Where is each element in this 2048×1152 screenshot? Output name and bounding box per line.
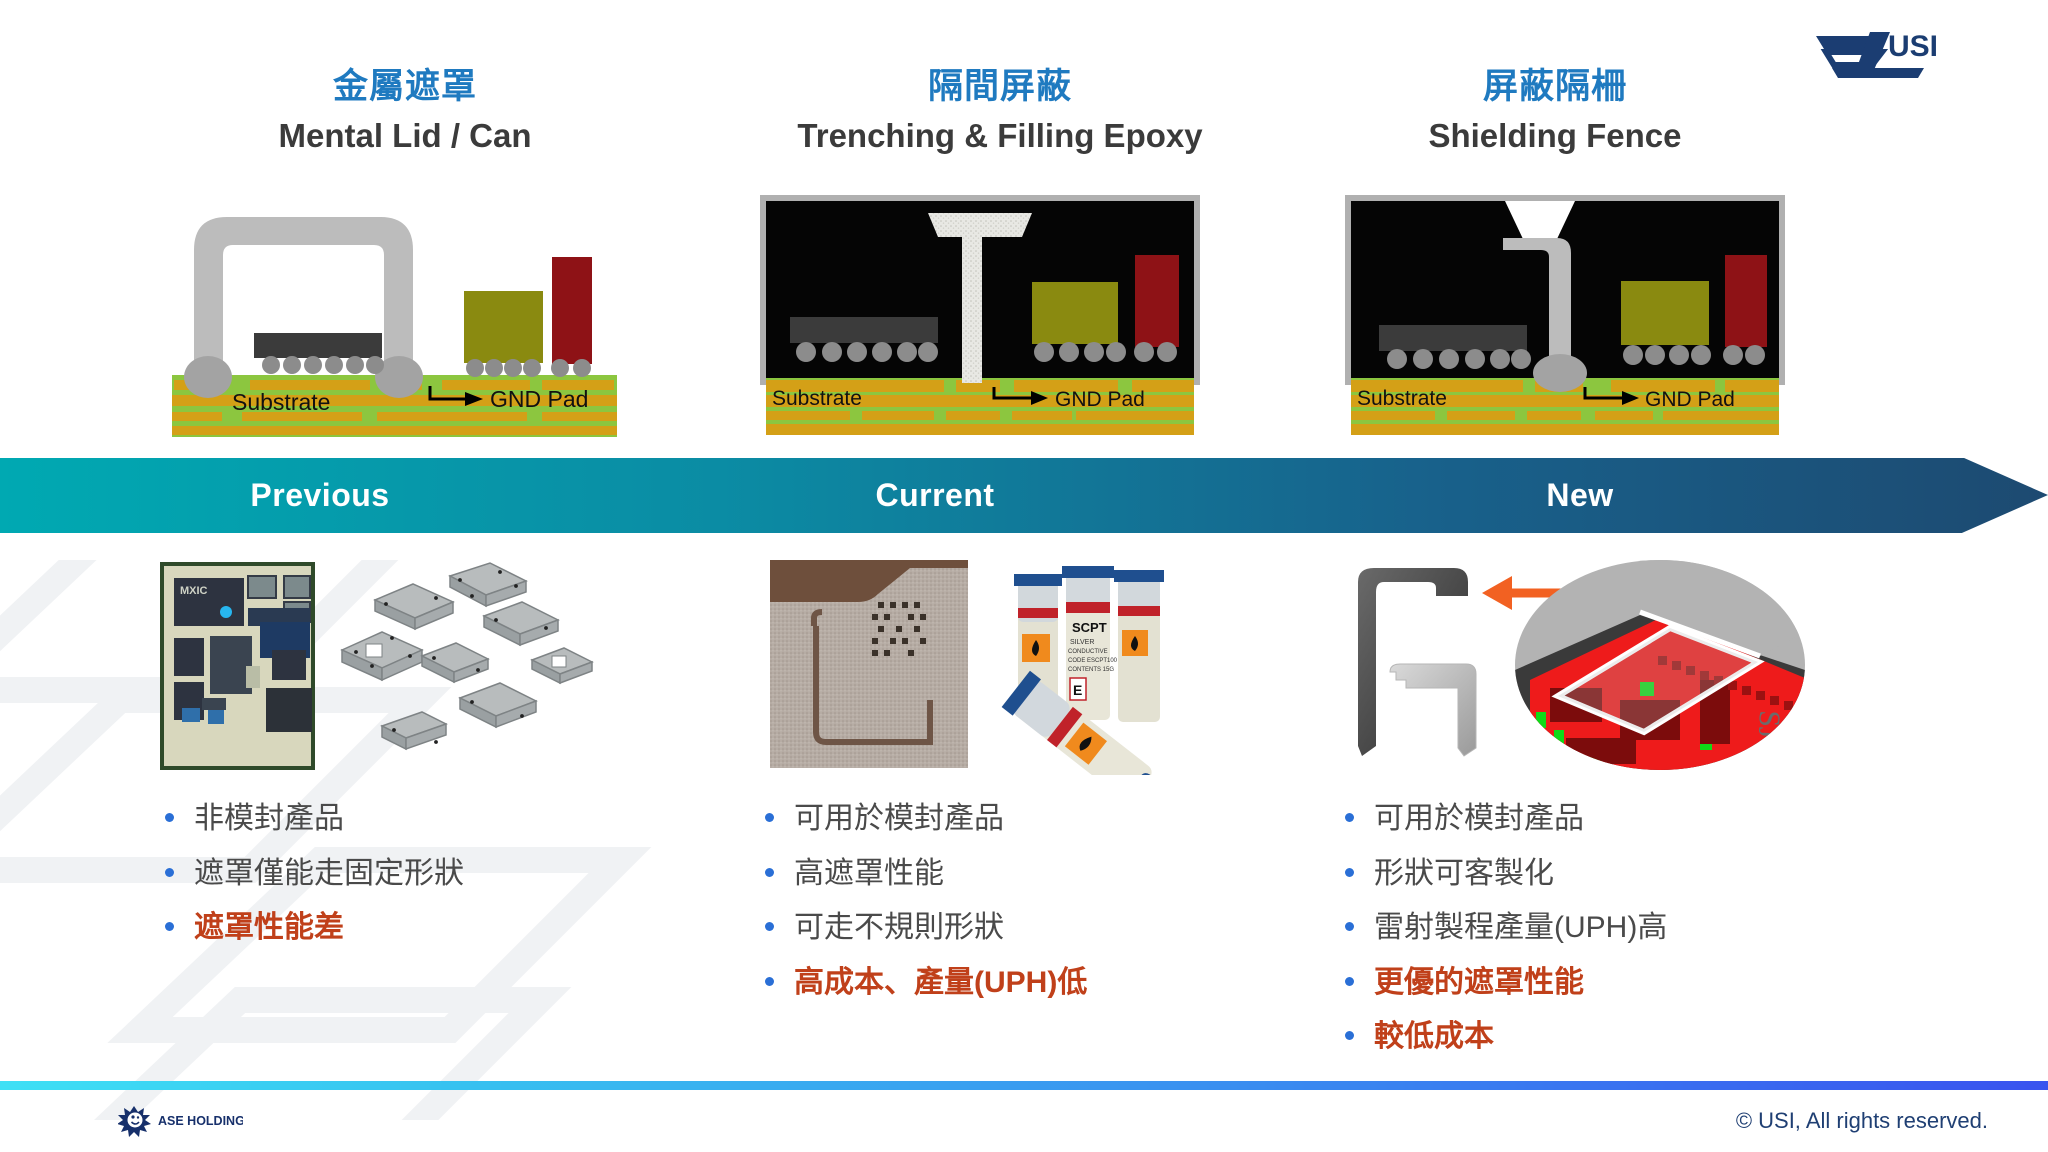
ase-holdings-logo: ASE HOLDINGS [118, 1104, 243, 1139]
svg-text:CONDUCTIVE: CONDUCTIVE [1068, 649, 1108, 655]
list-item: 可走不規則形狀 [765, 909, 1285, 947]
bullet-text: 更優的遮罩性能 [1374, 964, 1584, 1002]
bullet-dot-icon [765, 868, 774, 877]
column-header-new: 屏蔽隔柵 Shielding Fence [1285, 65, 1825, 158]
bullet-dot-icon [765, 813, 774, 822]
bullet-dot-icon [1345, 977, 1354, 986]
svg-text:E: E [1073, 682, 1082, 698]
diagram-trenching-filling-cross-section: Substrate GND Pad [760, 195, 1200, 435]
bullet-text: 雷射製程產量(UPH)高 [1374, 909, 1667, 947]
shielding-fence-render [1358, 568, 1476, 756]
bullet-dot-icon [1345, 813, 1354, 822]
list-item: 可用於模封產品 [1345, 800, 1885, 838]
svg-text:Substrate: Substrate [232, 389, 330, 415]
bullet-text: 高成本、產量(UPH)低 [794, 964, 1087, 1002]
list-item: 形狀可客製化 [1345, 855, 1885, 893]
svg-text:SCPT: SCPT [1072, 620, 1107, 635]
svg-text:GND Pad: GND Pad [1645, 388, 1735, 411]
svg-text:CODE ESCPT100: CODE ESCPT100 [1068, 658, 1118, 664]
column-title-en: Shielding Fence [1285, 114, 1825, 159]
column-title-zh: 金屬遮罩 [140, 65, 670, 109]
list-item: 可用於模封產品 [765, 800, 1285, 838]
svg-text:Substrate: Substrate [772, 387, 862, 410]
bullet-list-previous: 非模封產品 遮罩僅能走固定形狀 遮罩性能差 [165, 800, 665, 964]
list-item: 較低成本 [1345, 1018, 1885, 1056]
list-item: 高遮罩性能 [765, 855, 1285, 893]
photos-previous: MXIC [160, 560, 635, 775]
bullet-text: 非模封產品 [194, 800, 344, 838]
list-item: 高成本、產量(UPH)低 [765, 964, 1285, 1002]
copyright-text: © USI, All rights reserved. [1736, 1108, 1988, 1134]
column-title-zh: 隔間屏蔽 [600, 65, 1400, 109]
bullet-text: 遮罩性能差 [194, 909, 344, 947]
list-item: 雷射製程產量(UPH)高 [1345, 909, 1885, 947]
svg-text:Substrate: Substrate [1357, 387, 1447, 410]
svg-text:SJ: SJ [1752, 710, 1786, 740]
stage-label-previous: Previous [220, 468, 420, 523]
photos-current: SCPT SILVER CONDUCTIVE CODE ESCPT100 CON… [770, 560, 1225, 775]
bullet-dot-icon [765, 977, 774, 986]
svg-text:GND Pad: GND Pad [1055, 388, 1145, 411]
bullet-text: 較低成本 [1374, 1018, 1494, 1056]
epoxy-syringes-photo: SCPT SILVER CONDUCTIVE CODE ESCPT100 CON… [1002, 566, 1169, 775]
svg-text:MXIC: MXIC [180, 585, 208, 597]
bullet-list-current: 可用於模封產品 高遮罩性能 可走不規則形狀 高成本、產量(UPH)低 [765, 800, 1285, 1018]
bullet-dot-icon [1345, 1031, 1354, 1040]
bullet-text: 遮罩僅能走固定形狀 [194, 855, 464, 893]
ase-holdings-label: ASE HOLDINGS [158, 1114, 243, 1128]
svg-text:CONTENTS 15G: CONTENTS 15G [1068, 667, 1114, 673]
photos-new: SJ [1340, 560, 1805, 775]
metal-lids-photo [342, 563, 592, 749]
list-item: 更優的遮罩性能 [1345, 964, 1885, 1002]
stage-label-current: Current [835, 468, 1035, 523]
bullet-text: 形狀可客製化 [1374, 855, 1554, 893]
bullet-dot-icon [165, 813, 174, 822]
bullet-dot-icon [165, 868, 174, 877]
trenched-module-photo [770, 560, 968, 768]
bullet-text: 可走不規則形狀 [794, 909, 1004, 947]
bullet-dot-icon [765, 922, 774, 931]
footer-gradient-bar [0, 1081, 2048, 1090]
list-item: 遮罩性能差 [165, 909, 665, 947]
bullet-dot-icon [165, 922, 174, 931]
svg-text:USI: USI [1888, 30, 1938, 63]
column-header-previous: 金屬遮罩 Mental Lid / Can [140, 65, 670, 158]
svg-text:GND Pad: GND Pad [490, 386, 588, 412]
usi-logo: USI [1812, 22, 1947, 82]
list-item: 非模封產品 [165, 800, 665, 838]
diagram-shielding-fence-cross-section: Substrate GND Pad [1345, 195, 1785, 435]
bullet-text: 可用於模封產品 [1374, 800, 1584, 838]
bullet-dot-icon [1345, 922, 1354, 931]
pcb-module-photo: MXIC [160, 562, 315, 770]
column-title-en: Mental Lid / Can [140, 114, 670, 159]
bullet-text: 可用於模封產品 [794, 800, 1004, 838]
list-item: 遮罩僅能走固定形狀 [165, 855, 665, 893]
diagram-metal-lid-cross-section: Substrate GND Pad [172, 195, 617, 440]
bullet-dot-icon [1345, 868, 1354, 877]
column-title-zh: 屏蔽隔柵 [1285, 65, 1825, 109]
bullet-list-new: 可用於模封產品 形狀可客製化 雷射製程產量(UPH)高 更優的遮罩性能 較低成本 [1345, 800, 1885, 1073]
module-cutaway-illustration: SJ [1515, 560, 1805, 775]
svg-text:SILVER: SILVER [1070, 639, 1094, 646]
stage-label-new: New [1480, 468, 1680, 523]
column-header-current: 隔間屏蔽 Trenching & Filling Epoxy [600, 65, 1400, 158]
bullet-text: 高遮罩性能 [794, 855, 944, 893]
column-title-en: Trenching & Filling Epoxy [600, 114, 1400, 159]
